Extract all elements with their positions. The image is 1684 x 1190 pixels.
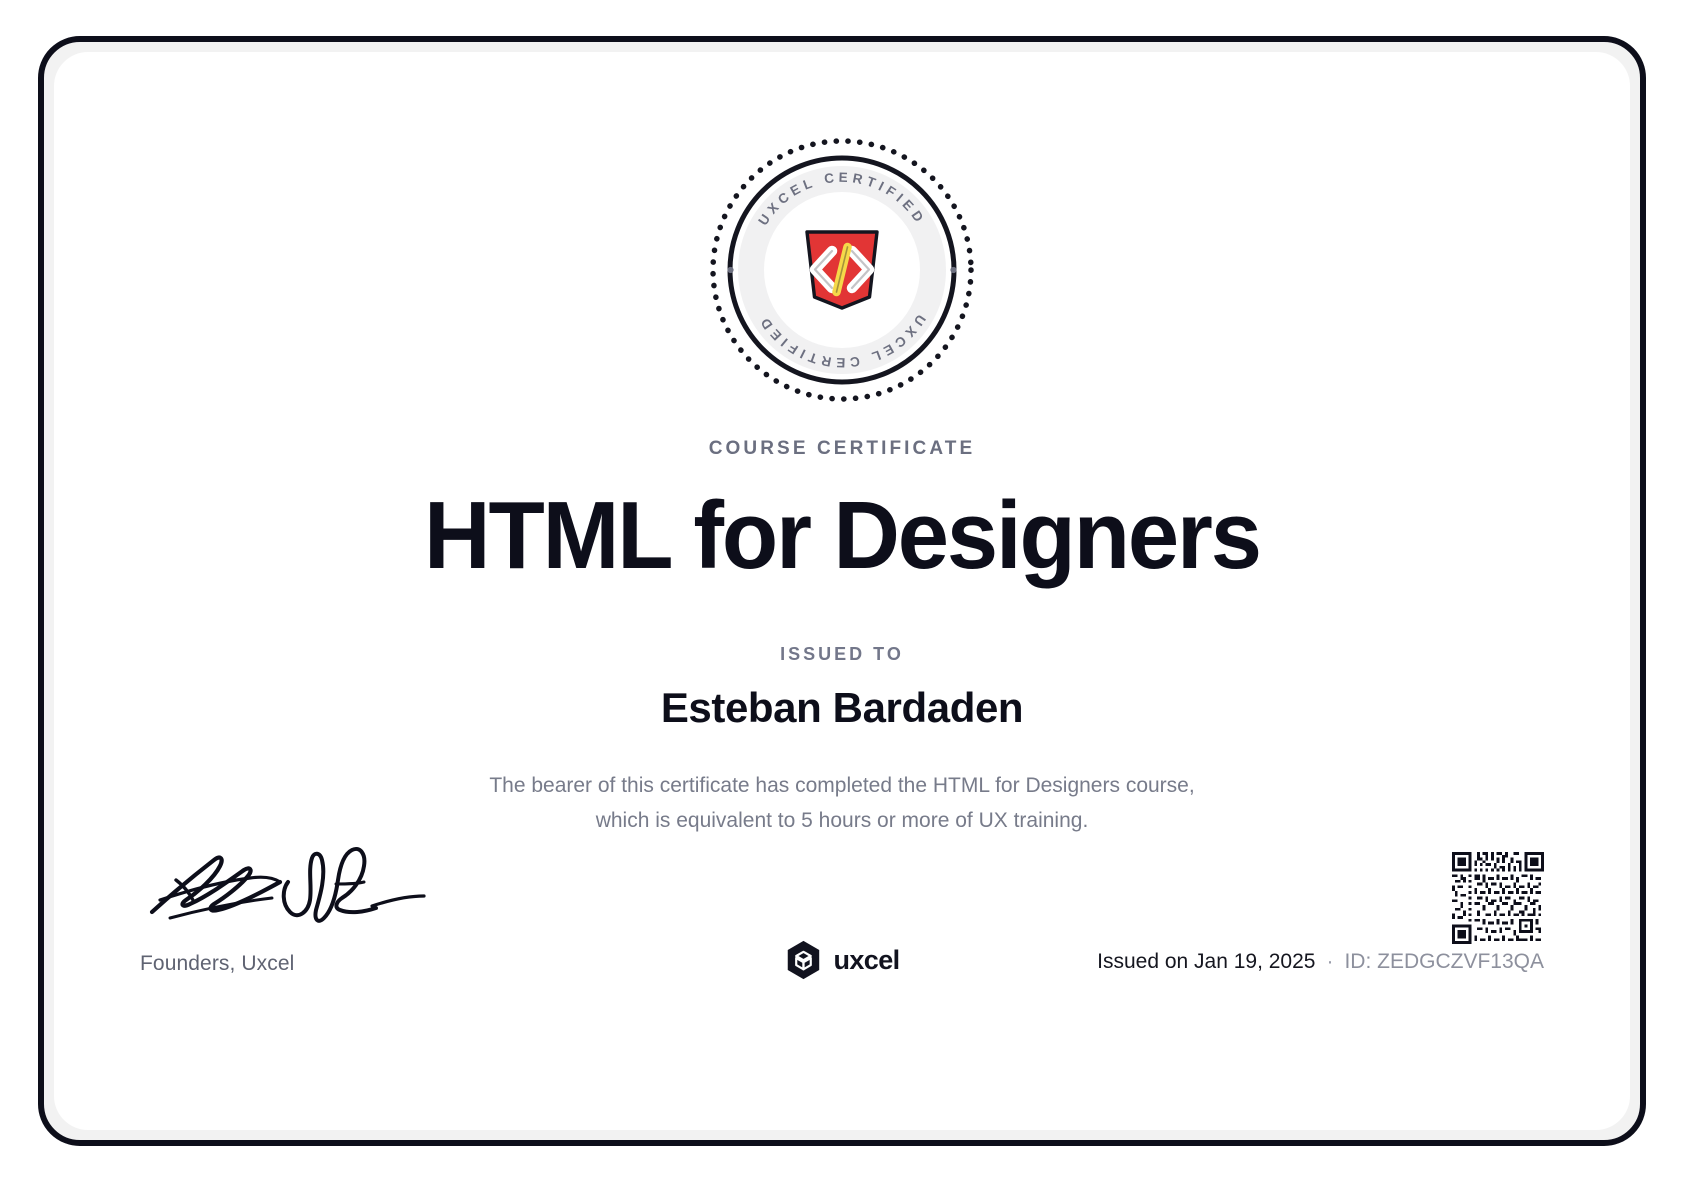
founders-signature-icon	[140, 840, 440, 932]
issued-to-eyebrow: ISSUED TO	[54, 644, 1630, 665]
founders-label: Founders, Uxcel	[140, 952, 294, 976]
issue-metadata: Issued on Jan 19, 2025 · ID: ZEDGCZVF13Q…	[1097, 950, 1544, 974]
qr-code-icon[interactable]	[1452, 852, 1544, 944]
page-title: HTML for Designers	[86, 480, 1599, 592]
issued-on-date: Issued on Jan 19, 2025	[1097, 950, 1315, 974]
description-line-2: which is equivalent to 5 hours or more o…	[342, 803, 1342, 838]
uxcel-brand: uxcel	[784, 940, 899, 980]
certificate-description: The bearer of this certificate has compl…	[342, 768, 1342, 838]
brand-name: uxcel	[833, 945, 899, 976]
metadata-separator: ·	[1324, 950, 1335, 974]
uxcel-hexagon-cube-logo-icon	[784, 940, 822, 980]
certificate-card: UXCEL CERTIFIED UXCEL CERTIFIED	[54, 52, 1630, 1130]
course-certificate-eyebrow: COURSE CERTIFICATE	[54, 438, 1630, 460]
html-code-shield-icon	[807, 232, 877, 308]
uxcel-certified-badge: UXCEL CERTIFIED UXCEL CERTIFIED	[706, 134, 978, 406]
recipient-name: Esteban Bardaden	[54, 682, 1630, 734]
signatures-block	[140, 840, 460, 932]
badge-seal-icon: UXCEL CERTIFIED UXCEL CERTIFIED	[706, 134, 978, 406]
certificate-id: ID: ZEDGCZVF13QA	[1344, 950, 1544, 974]
description-line-1: The bearer of this certificate has compl…	[342, 768, 1342, 803]
certificate-page: UXCEL CERTIFIED UXCEL CERTIFIED	[0, 0, 1684, 1190]
certificate-frame: UXCEL CERTIFIED UXCEL CERTIFIED	[38, 36, 1646, 1146]
qr-code[interactable]	[1452, 852, 1544, 944]
